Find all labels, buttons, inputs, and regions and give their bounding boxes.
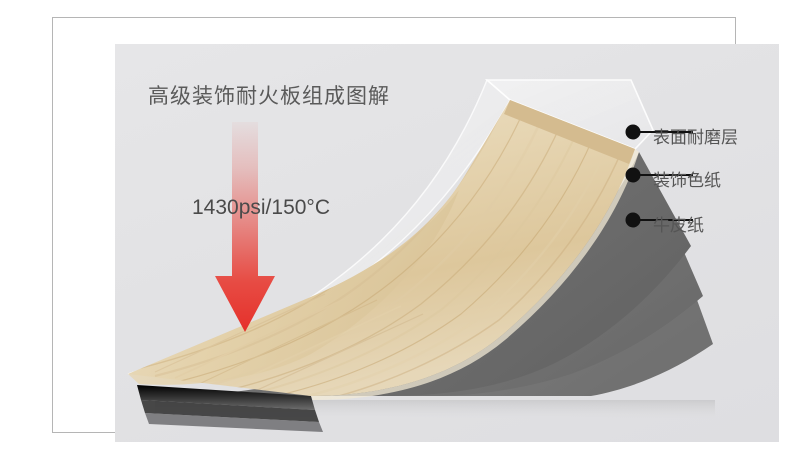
- pressure-label: 1430psi/150°C: [192, 196, 330, 220]
- callout-label-surface-wear-layer: 表面耐磨层: [653, 123, 738, 148]
- callout-label-kraft-paper: 牛皮纸: [653, 211, 704, 236]
- pressure-arrow: [215, 122, 275, 332]
- figure-frame: 高级装饰耐火板组成图解 1430psi/150°C 表面耐磨层 装饰色纸: [52, 17, 736, 433]
- callout-label-decorative-paper: 装饰色纸: [653, 166, 721, 191]
- figure-title: 高级装饰耐火板组成图解: [148, 80, 390, 110]
- figure-panel: 高级装饰耐火板组成图解 1430psi/150°C 表面耐磨层 装饰色纸: [115, 44, 779, 442]
- figure-page: 高级装饰耐火板组成图解 1430psi/150°C 表面耐磨层 装饰色纸: [0, 0, 800, 456]
